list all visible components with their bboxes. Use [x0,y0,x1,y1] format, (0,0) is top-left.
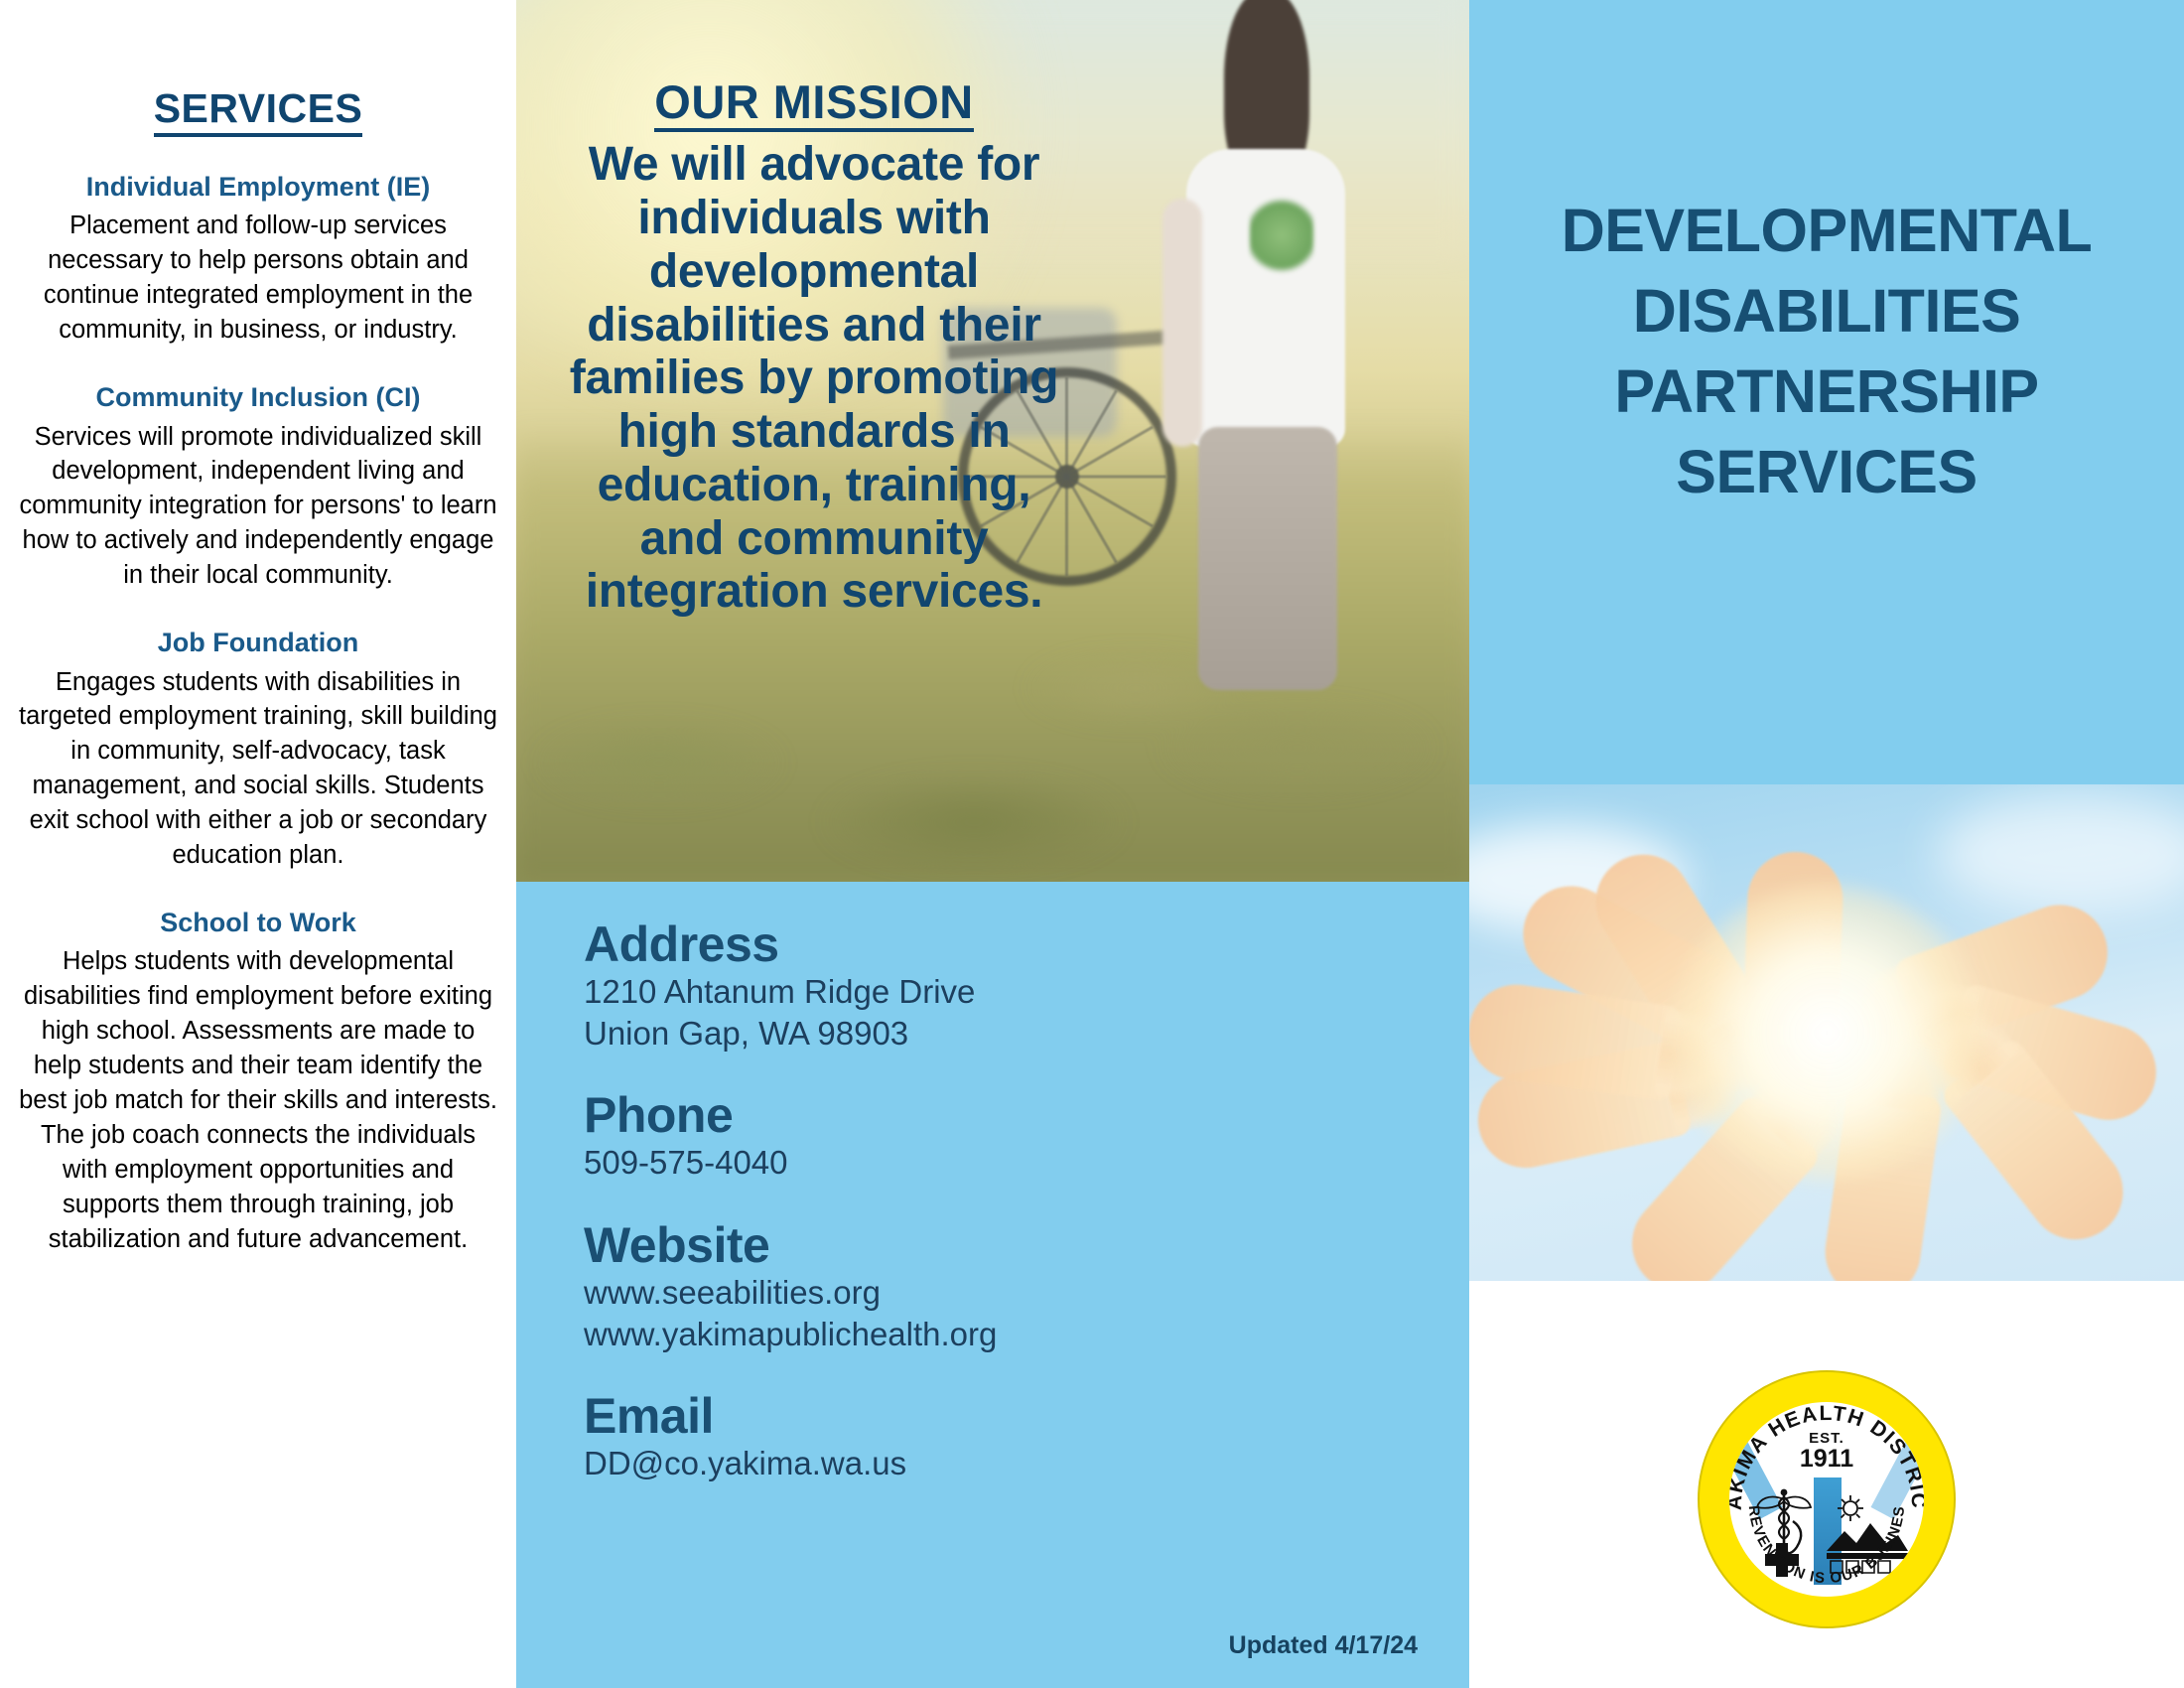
brochure-title: DEVELOPMENTAL DISABILITIES PARTNERSHIP S… [1469,191,2184,513]
service-description: Services will promote individualized ski… [18,420,498,594]
spacer [584,1055,1469,1088]
service-item-individual-employment: Individual Employment (IE) Placement and… [18,171,498,348]
photo-sun-burst [1668,884,1985,1182]
website-link-seeabilities[interactable]: www.seeabilities.org [584,1272,1469,1314]
photo-cloud [1936,794,2184,914]
address-label: Address [584,917,1469,971]
logo-top-text: YAKIMA HEALTH DISTRICT [1729,1402,1924,1510]
yakima-health-district-logo: EST. 1911 [1698,1370,1956,1628]
service-description: Placement and follow-up services necessa… [18,209,498,348]
services-title-wrap: SERVICES [18,87,498,137]
service-description: Engages students with disabilities in ta… [18,665,498,874]
logo-circular-text: YAKIMA HEALTH DISTRICT PREVENTION IS OUR… [1729,1402,1924,1597]
person-shirt-graphic [1250,194,1313,277]
service-item-job-foundation: Job Foundation Engages students with dis… [18,627,498,873]
spacer [584,1185,1469,1218]
hands-circle-photo [1469,784,2184,1281]
mission-title: OUR MISSION [654,77,973,132]
brochure-page: SERVICES Individual Employment (IE) Plac… [0,0,2184,1688]
mission-block: OUR MISSION We will advocate for individ… [556,77,1072,619]
person-arm [1162,199,1202,447]
phone-label: Phone [584,1088,1469,1142]
updated-date: Updated 4/17/24 [1229,1631,1418,1660]
services-title: SERVICES [154,87,363,137]
mission-and-contact-panel: OUR MISSION We will advocate for individ… [516,0,1469,1688]
service-heading: Individual Employment (IE) [18,171,498,203]
logo-inner-disc: EST. 1911 [1729,1402,1924,1597]
title-line-2: DISABILITIES [1469,271,2184,352]
email-address[interactable]: DD@co.yakima.wa.us [584,1443,1469,1484]
service-heading: School to Work [18,907,498,938]
mission-text: We will advocate for individuals with de… [556,138,1072,619]
service-description: Helps students with developmental disabi… [18,944,498,1256]
contact-section: Address 1210 Ahtanum Ridge Drive Union G… [516,882,1469,1688]
service-item-school-to-work: School to Work Helps students with devel… [18,907,498,1257]
title-line-4: SERVICES [1469,432,2184,512]
field-wheelchair-photo: OUR MISSION We will advocate for individ… [516,0,1469,882]
service-item-community-inclusion: Community Inclusion (CI) Services will p… [18,381,498,593]
email-label: Email [584,1389,1469,1443]
phone-number[interactable]: 509-575-4040 [584,1142,1469,1184]
address-line-2: Union Gap, WA 98903 [584,1013,1469,1055]
title-line-1: DEVELOPMENTAL [1469,191,2184,271]
website-link-yakimapublichealth[interactable]: www.yakimapublichealth.org [584,1314,1469,1355]
svg-text:YAKIMA HEALTH DISTRICT: YAKIMA HEALTH DISTRICT [1729,1402,1924,1510]
title-line-3: PARTNERSHIP [1469,352,2184,432]
service-heading: Job Foundation [18,627,498,658]
cover-panel: DEVELOPMENTAL DISABILITIES PARTNERSHIP S… [1469,0,2184,1688]
address-line-1: 1210 Ahtanum Ridge Drive [584,971,1469,1013]
service-heading: Community Inclusion (CI) [18,381,498,413]
person-legs [1198,427,1337,690]
spacer [584,1355,1469,1389]
services-panel: SERVICES Individual Employment (IE) Plac… [0,0,516,1688]
website-label: Website [584,1218,1469,1272]
person-walking-graphic [1147,0,1375,685]
